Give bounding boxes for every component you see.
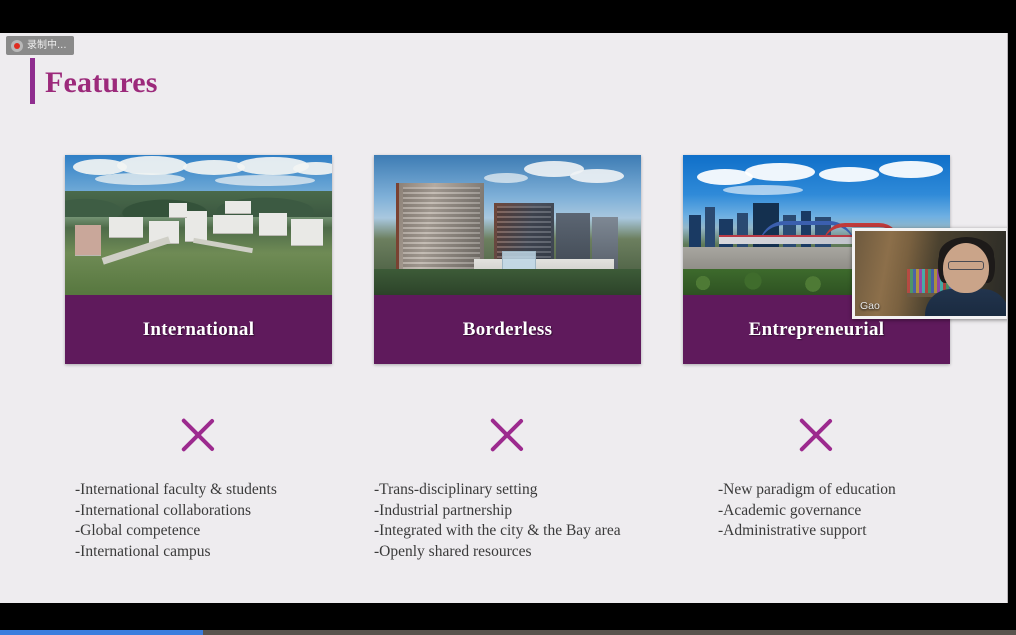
list-item: -International collaborations	[75, 501, 375, 522]
top-chrome-bar	[0, 0, 1016, 33]
list-item: -International faculty & students	[75, 480, 375, 501]
meeting-screen-share-window: 录制中... Features	[0, 0, 1016, 635]
list-item: -Industrial partnership	[374, 501, 694, 522]
playback-progress-fill	[0, 630, 203, 635]
list-item: -Academic governance	[718, 501, 1008, 522]
aerial-campus-photo	[65, 155, 332, 295]
feature-card: International	[65, 155, 332, 364]
record-dot-icon	[11, 40, 23, 52]
feature-column-international: International -International faculty & s…	[65, 155, 332, 364]
participant-video-thumbnail[interactable]: Gao	[852, 228, 1008, 319]
participant-name-label: Gao	[860, 300, 880, 312]
list-item: -Administrative support	[718, 521, 1008, 542]
playback-progress-track[interactable]	[0, 630, 1016, 635]
list-item: -Integrated with the city & the Bay area	[374, 521, 694, 542]
list-item: -International campus	[75, 542, 375, 563]
list-item: -Openly shared resources	[374, 542, 694, 563]
feature-card: Borderless	[374, 155, 641, 364]
modern-building-render-photo	[374, 155, 641, 295]
feature-bullet-list: -Trans-disciplinary setting -Industrial …	[374, 480, 694, 562]
feature-bullet-list: -New paradigm of education -Academic gov…	[718, 480, 1008, 542]
list-item: -Trans-disciplinary setting	[374, 480, 694, 501]
feature-bullet-list: -International faculty & students -Inter…	[75, 480, 375, 562]
feature-card-label: International	[65, 295, 332, 364]
x-cross-icon	[170, 407, 226, 463]
recording-indicator[interactable]: 录制中...	[6, 36, 74, 55]
list-item: -Global competence	[75, 521, 375, 542]
feature-column-borderless: Borderless -Trans-disciplinary setting -…	[374, 155, 641, 364]
feature-card-label: Borderless	[374, 295, 641, 364]
recording-label: 录制中...	[27, 41, 67, 51]
x-cross-icon	[479, 407, 535, 463]
presentation-slide: 录制中... Features	[0, 33, 1008, 603]
x-cross-icon	[788, 407, 844, 463]
list-item: -New paradigm of education	[718, 480, 1008, 501]
